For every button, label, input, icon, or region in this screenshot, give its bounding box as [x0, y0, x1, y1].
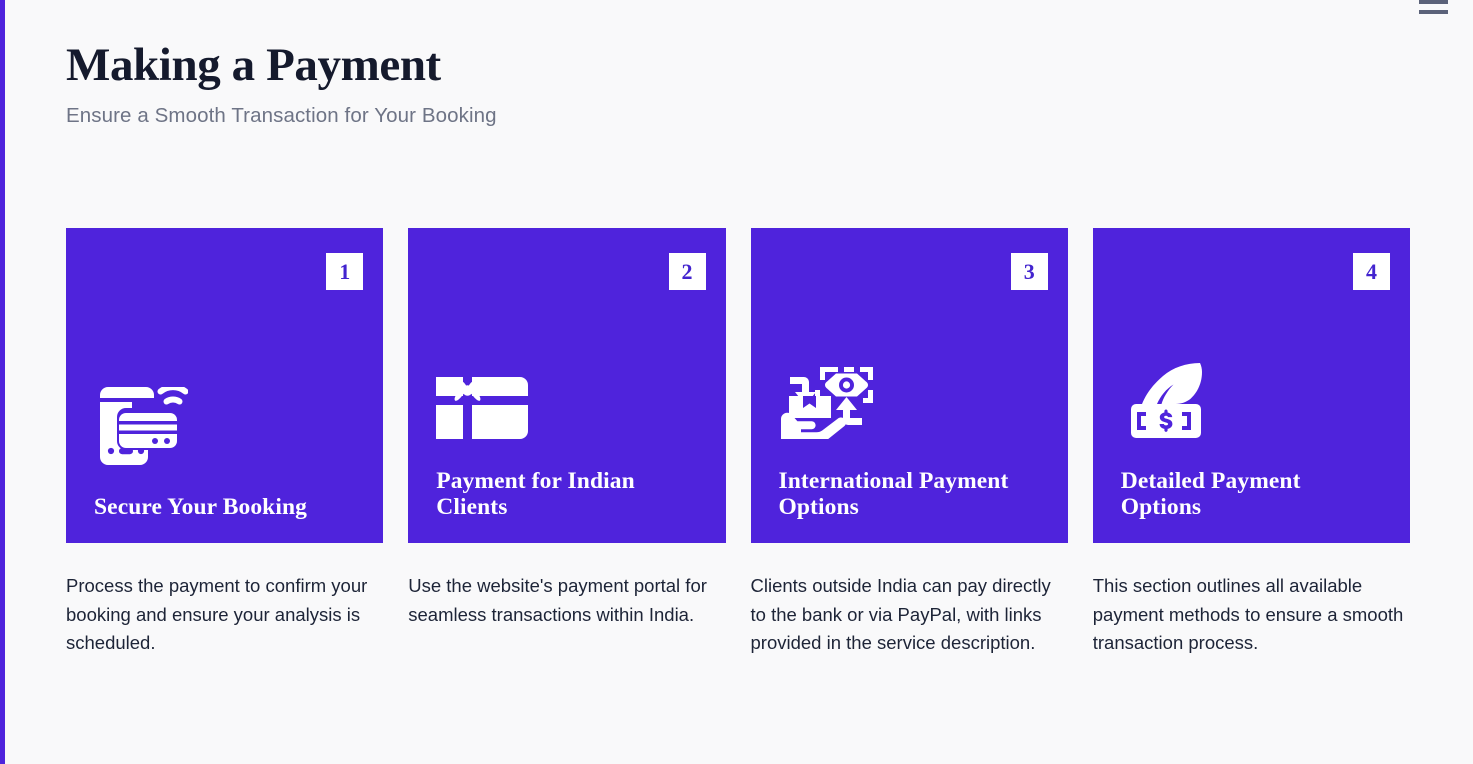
step-description: Clients outside India can pay directly t…	[751, 572, 1068, 658]
payment-step-4: 4 Detailed Payment Options This section …	[1093, 228, 1410, 658]
step-description: Process the payment to confirm your book…	[66, 572, 383, 658]
page-subtitle: Ensure a Smooth Transaction for Your Boo…	[66, 104, 497, 128]
payment-step-2: 2 Payment	[408, 228, 725, 658]
step-title: Secure Your Booking	[94, 495, 355, 521]
step-description: Use the website's payment portal for sea…	[408, 572, 725, 629]
mobile-contactless-card-icon	[94, 387, 355, 465]
step-title: Detailed Payment Options	[1121, 469, 1382, 521]
step-card[interactable]: 1	[66, 228, 383, 543]
hand-box-currency-exchange-icon	[779, 361, 1040, 439]
step-card[interactable]: 2 Payment	[408, 228, 725, 543]
step-number-badge: 1	[326, 253, 363, 290]
gift-card-ribbon-icon	[436, 361, 697, 439]
step-description: This section outlines all available paym…	[1093, 572, 1410, 658]
payment-steps-grid: 1	[66, 228, 1410, 658]
step-card[interactable]: 4 Detailed Payment Options	[1093, 228, 1410, 543]
step-card[interactable]: 3	[751, 228, 1068, 543]
hand-holding-cash-icon	[1121, 361, 1382, 439]
step-number-badge: 3	[1011, 253, 1048, 290]
payment-step-1: 1	[66, 228, 383, 658]
step-title: Payment for Indian Clients	[436, 469, 697, 521]
payment-step-3: 3	[751, 228, 1068, 658]
step-number-badge: 2	[669, 253, 706, 290]
page-title: Making a Payment	[66, 38, 441, 92]
payment-page: Making a Payment Ensure a Smooth Transac…	[0, 0, 1473, 764]
step-title: International Payment Options	[779, 469, 1040, 521]
step-number-badge: 4	[1353, 253, 1390, 290]
